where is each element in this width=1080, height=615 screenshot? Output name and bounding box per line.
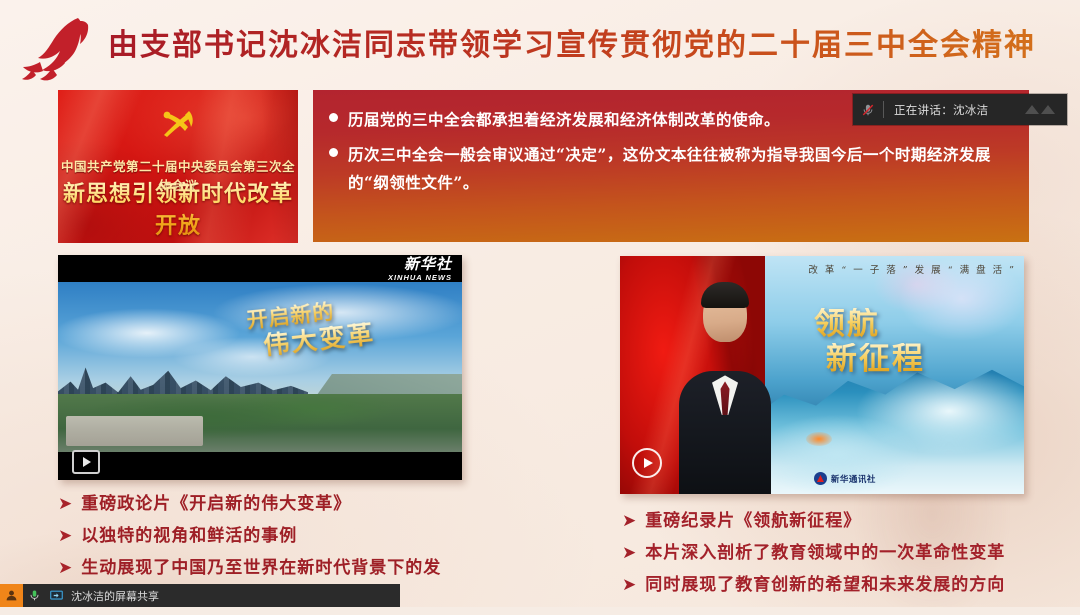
- microphone-muted-icon: [853, 94, 883, 125]
- chevron-right-icon: ➤: [622, 538, 636, 568]
- list-item: ➤ 以独特的视角和鲜活的事例: [58, 521, 578, 551]
- portrait-figure: [656, 275, 793, 494]
- chevron-right-icon: ➤: [622, 506, 636, 536]
- plaza-layer: [66, 416, 203, 446]
- list-item: ➤ 重磅政论片《开启新的伟大变革》: [58, 489, 578, 519]
- bullet-dot-icon: [329, 148, 338, 157]
- chevron-right-icon: ➤: [58, 553, 72, 583]
- figure-suit: [679, 371, 771, 494]
- watermark-cn-text: 新华社: [388, 257, 452, 272]
- overlay-divider: [883, 101, 884, 118]
- chevron-right-icon: ➤: [58, 521, 72, 551]
- bullet-text: 重磅纪录片《领航新征程》: [645, 506, 861, 536]
- chevron-right-icon: ➤: [58, 489, 72, 519]
- key-point-text: 历届党的三中全会都承担着经济发展和经济体制改革的使命。: [348, 106, 780, 134]
- microphone-icon[interactable]: [23, 584, 45, 607]
- play-button-icon[interactable]: [632, 448, 662, 478]
- video-right-title: 领航 新征程: [814, 308, 925, 376]
- letterbox-bottom: [58, 452, 462, 480]
- participant-icon[interactable]: [0, 584, 23, 607]
- screenshare-label: 沈冰洁的屏幕共享: [71, 588, 159, 604]
- video-right-title-line1: 领航: [814, 308, 925, 341]
- video-thumbnail-left[interactable]: 新华社 XINHUA NEWS 开启新的 伟大变革: [58, 255, 462, 480]
- video-thumbnail-right[interactable]: 改 革 “ 一 子 落 ” 发 展 “ 满 盘 活 ” 领航 新征程 新华通讯社: [620, 256, 1024, 494]
- list-item: ➤ 重磅纪录片《领航新征程》: [622, 506, 1072, 536]
- chevron-right-icon: ➤: [622, 570, 636, 600]
- active-speaker-label: 正在讲话：沈冰洁: [894, 102, 988, 118]
- slide-canvas: 由支部书记沈冰洁同志带领学习宣传贯彻党的二十届三中全会精神 中国共产党第二十届中…: [0, 0, 1080, 607]
- bullet-text: 重磅政论片《开启新的伟大变革》: [81, 489, 351, 519]
- bullet-text: 同时展现了教育创新的希望和未来发展的方向: [645, 570, 1005, 600]
- video-right-title-line2: 新征程: [826, 343, 925, 376]
- list-item: ➤ 本片深入剖析了教育领域中的一次革命性变革: [622, 538, 1072, 568]
- list-item: ➤ 同时展现了教育创新的希望和未来发展的方向: [622, 570, 1072, 600]
- xinhua-agency-logo: 新华通讯社: [814, 472, 876, 485]
- audio-wave-icon: [1023, 101, 1059, 118]
- hammer-sickle-emblem: [158, 104, 198, 144]
- active-speaker-overlay[interactable]: 正在讲话：沈冰洁: [853, 94, 1067, 125]
- agency-logo-text: 新华通讯社: [831, 473, 876, 485]
- xinhua-watermark: 新华社 XINHUA NEWS: [388, 257, 452, 282]
- bullet-text: 生动展现了中国乃至世界在新时代背景下的发: [81, 553, 441, 583]
- poster-headline: 新思想引领新时代改革开放: [58, 176, 298, 240]
- watermark-en-text: XINHUA NEWS: [388, 274, 452, 282]
- screenshare-status-bar[interactable]: 沈冰洁的屏幕共享: [0, 584, 400, 607]
- screen-share-icon[interactable]: [45, 584, 67, 607]
- video-right-toptext: 改 革 “ 一 子 落 ” 发 展 “ 满 盘 活 ”: [808, 262, 1016, 276]
- red-dove-logo: [16, 10, 112, 84]
- play-button-icon[interactable]: [72, 450, 100, 474]
- conference-poster-card: 中国共产党第二十届中央委员会第三次全体会议 新思想引领新时代改革开放: [58, 90, 298, 243]
- figure-hair: [701, 282, 749, 308]
- bullets-right: ➤ 重磅纪录片《领航新征程》 ➤ 本片深入剖析了教育领域中的一次革命性变革 ➤ …: [622, 506, 1072, 602]
- bullet-text: 本片深入剖析了教育领域中的一次革命性变革: [645, 538, 1005, 568]
- key-point-text: 历次三中全会一般会审议通过“决定”，这份文本往往被称为指导我国今后一个时期经济发…: [348, 141, 1017, 197]
- slide-header: 由支部书记沈冰洁同志带领学习宣传贯彻党的二十届三中全会精神: [0, 0, 1080, 88]
- bullet-dot-icon: [329, 113, 338, 122]
- bullet-text: 以独特的视角和鲜活的事例: [81, 521, 297, 551]
- list-item: 历次三中全会一般会审议通过“决定”，这份文本往往被称为指导我国今后一个时期经济发…: [327, 141, 1017, 197]
- list-item: ➤ 生动展现了中国乃至世界在新时代背景下的发: [58, 553, 578, 583]
- agency-logo-mark-icon: [814, 472, 827, 485]
- page-title: 由支部书记沈冰洁同志带领学习宣传贯彻党的二十届三中全会精神: [108, 22, 1048, 70]
